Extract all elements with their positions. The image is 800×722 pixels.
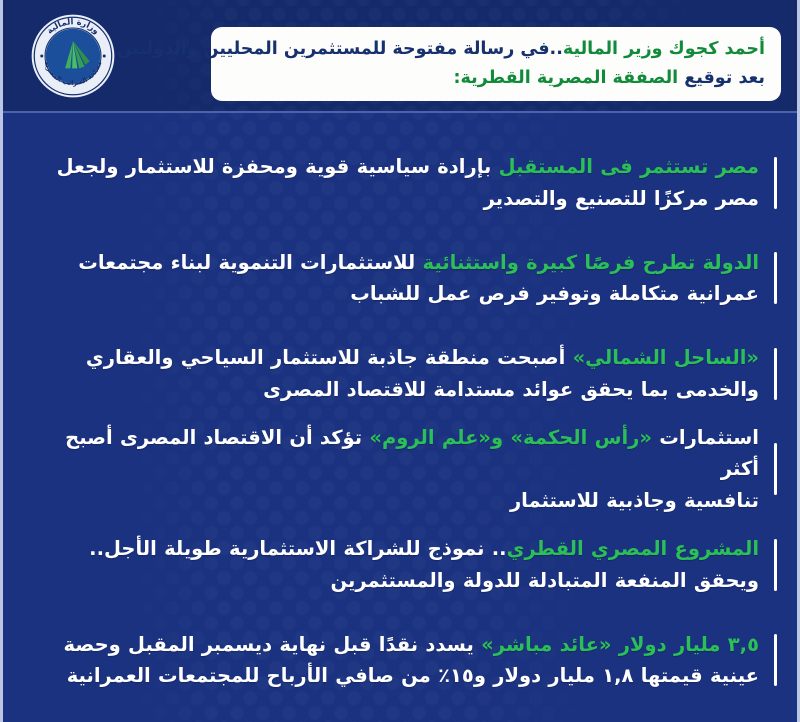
bullet-highlight: مصر تستثمر فى المستقبل [499, 155, 759, 178]
bullet-highlight: «رأس الحكمة» و«علم الروم» [369, 426, 652, 449]
bullet-text: مصر تستثمر فى المستقبل بإرادة سياسية قوي… [55, 151, 759, 214]
bullet-rule-marker [774, 539, 777, 591]
bullet-line-2: ويحقق المنفعة المتبادلة للدولة والمستثمر… [331, 569, 760, 592]
header-line-1: أحمد كجوك وزير المالية..في رسالة مفتوحة … [225, 37, 765, 62]
bullet-list: مصر تستثمر فى المستقبل بإرادة سياسية قوي… [3, 113, 800, 722]
header-deal-name: الصفقة المصرية القطرية: [453, 68, 678, 88]
bullet-text: «الساحل الشمالي» أصبحت منطقة جاذبة للاست… [55, 342, 759, 405]
bullet-line-2: والخدمى بما يحقق عوائد مستدامة للاقتصاد … [263, 378, 759, 401]
header-band: وزارة المالية مصلحة الضرائب المصرية أحمد… [3, 0, 797, 113]
bullet-rest: يسدد نقدًا قبل نهاية ديسمبر المقبل وحصة [64, 633, 482, 656]
bullet-investing-in-the-future: مصر تستثمر فى المستقبل بإرادة سياسية قوي… [21, 135, 785, 231]
bullet-highlight: «الساحل الشمالي» [573, 346, 759, 369]
header-line-1-rest: ..في رسالة مفتوحة للمستثمرين المحليين وا… [117, 39, 563, 59]
bullet-line-2: تنافسية وجاذبية للاستثمار [510, 489, 759, 512]
bullet-rule-marker [774, 157, 777, 209]
bullet-egyptian-qatari-project: المشروع المصري القطري.. نموذج للشراكة ال… [21, 517, 785, 613]
bullet-rest: أصبحت منطقة جاذبة للاستثمار السياحي والع… [86, 346, 573, 369]
ministry-of-finance-logo-icon: وزارة المالية مصلحة الضرائب المصرية [29, 12, 117, 100]
bullet-rule-marker [774, 634, 777, 686]
infographic-poster: وزارة المالية مصلحة الضرائب المصرية أحمد… [0, 0, 800, 722]
header-line-2-prefix: بعد توقيع [684, 68, 765, 88]
bullet-highlight: المشروع المصري القطري [507, 537, 759, 560]
bullet-rest: بإرادة سياسية قوية ومحفزة للاستثمار ولجع… [57, 155, 499, 178]
bullet-text: ٣,٥ مليار دولار «عائد مباشر» يسدد نقدًا … [55, 629, 759, 692]
bullet-highlight: الدولة تطرح فرصًا كبيرة واستثنائية [423, 251, 759, 274]
bullet-line-2: مصر مركزًا للتصنيع والتصدير [484, 187, 759, 210]
bullet-rest: .. نموذج للشراكة الاستثمارية طويلة الأجل… [89, 537, 506, 560]
header-minister-name: أحمد كجوك وزير المالية [563, 39, 765, 59]
header-title-card: أحمد كجوك وزير المالية..في رسالة مفتوحة … [211, 27, 781, 101]
bullet-north-coast: «الساحل الشمالي» أصبحت منطقة جاذبة للاست… [21, 326, 785, 422]
bullet-rest: للاستثمارات التنموية لبناء مجتمعات [78, 251, 422, 274]
bullet-text: الدولة تطرح فرصًا كبيرة واستثنائية للاست… [55, 247, 759, 310]
header-line-2: بعد توقيع الصفقة المصرية القطرية: [225, 66, 765, 91]
bullet-text: استثمارات «رأس الحكمة» و«علم الروم» تؤكد… [55, 422, 759, 517]
bullet-exceptional-opportunities: الدولة تطرح فرصًا كبيرة واستثنائية للاست… [21, 231, 785, 327]
bullet-rule-marker [774, 252, 777, 304]
bullet-text: المشروع المصري القطري.. نموذج للشراكة ال… [55, 533, 759, 596]
bullet-rule-marker [774, 348, 777, 400]
bullet-direct-return-figures: ٣,٥ مليار دولار «عائد مباشر» يسدد نقدًا … [21, 613, 785, 709]
bullet-ras-elhekma-alam-elroum: استثمارات «رأس الحكمة» و«علم الروم» تؤكد… [21, 422, 785, 518]
bullet-line-2: عمرانية متكاملة وتوفير فرص عمل للشباب [350, 282, 759, 305]
bullet-highlight: ٣,٥ مليار دولار «عائد مباشر» [481, 633, 759, 656]
bullet-prefix: استثمارات [652, 426, 759, 449]
bullet-line-2: عينية قيمتها ١,٨ مليار دولار و١٥٪ من صاف… [67, 664, 759, 687]
bullet-rule-marker [774, 443, 777, 495]
